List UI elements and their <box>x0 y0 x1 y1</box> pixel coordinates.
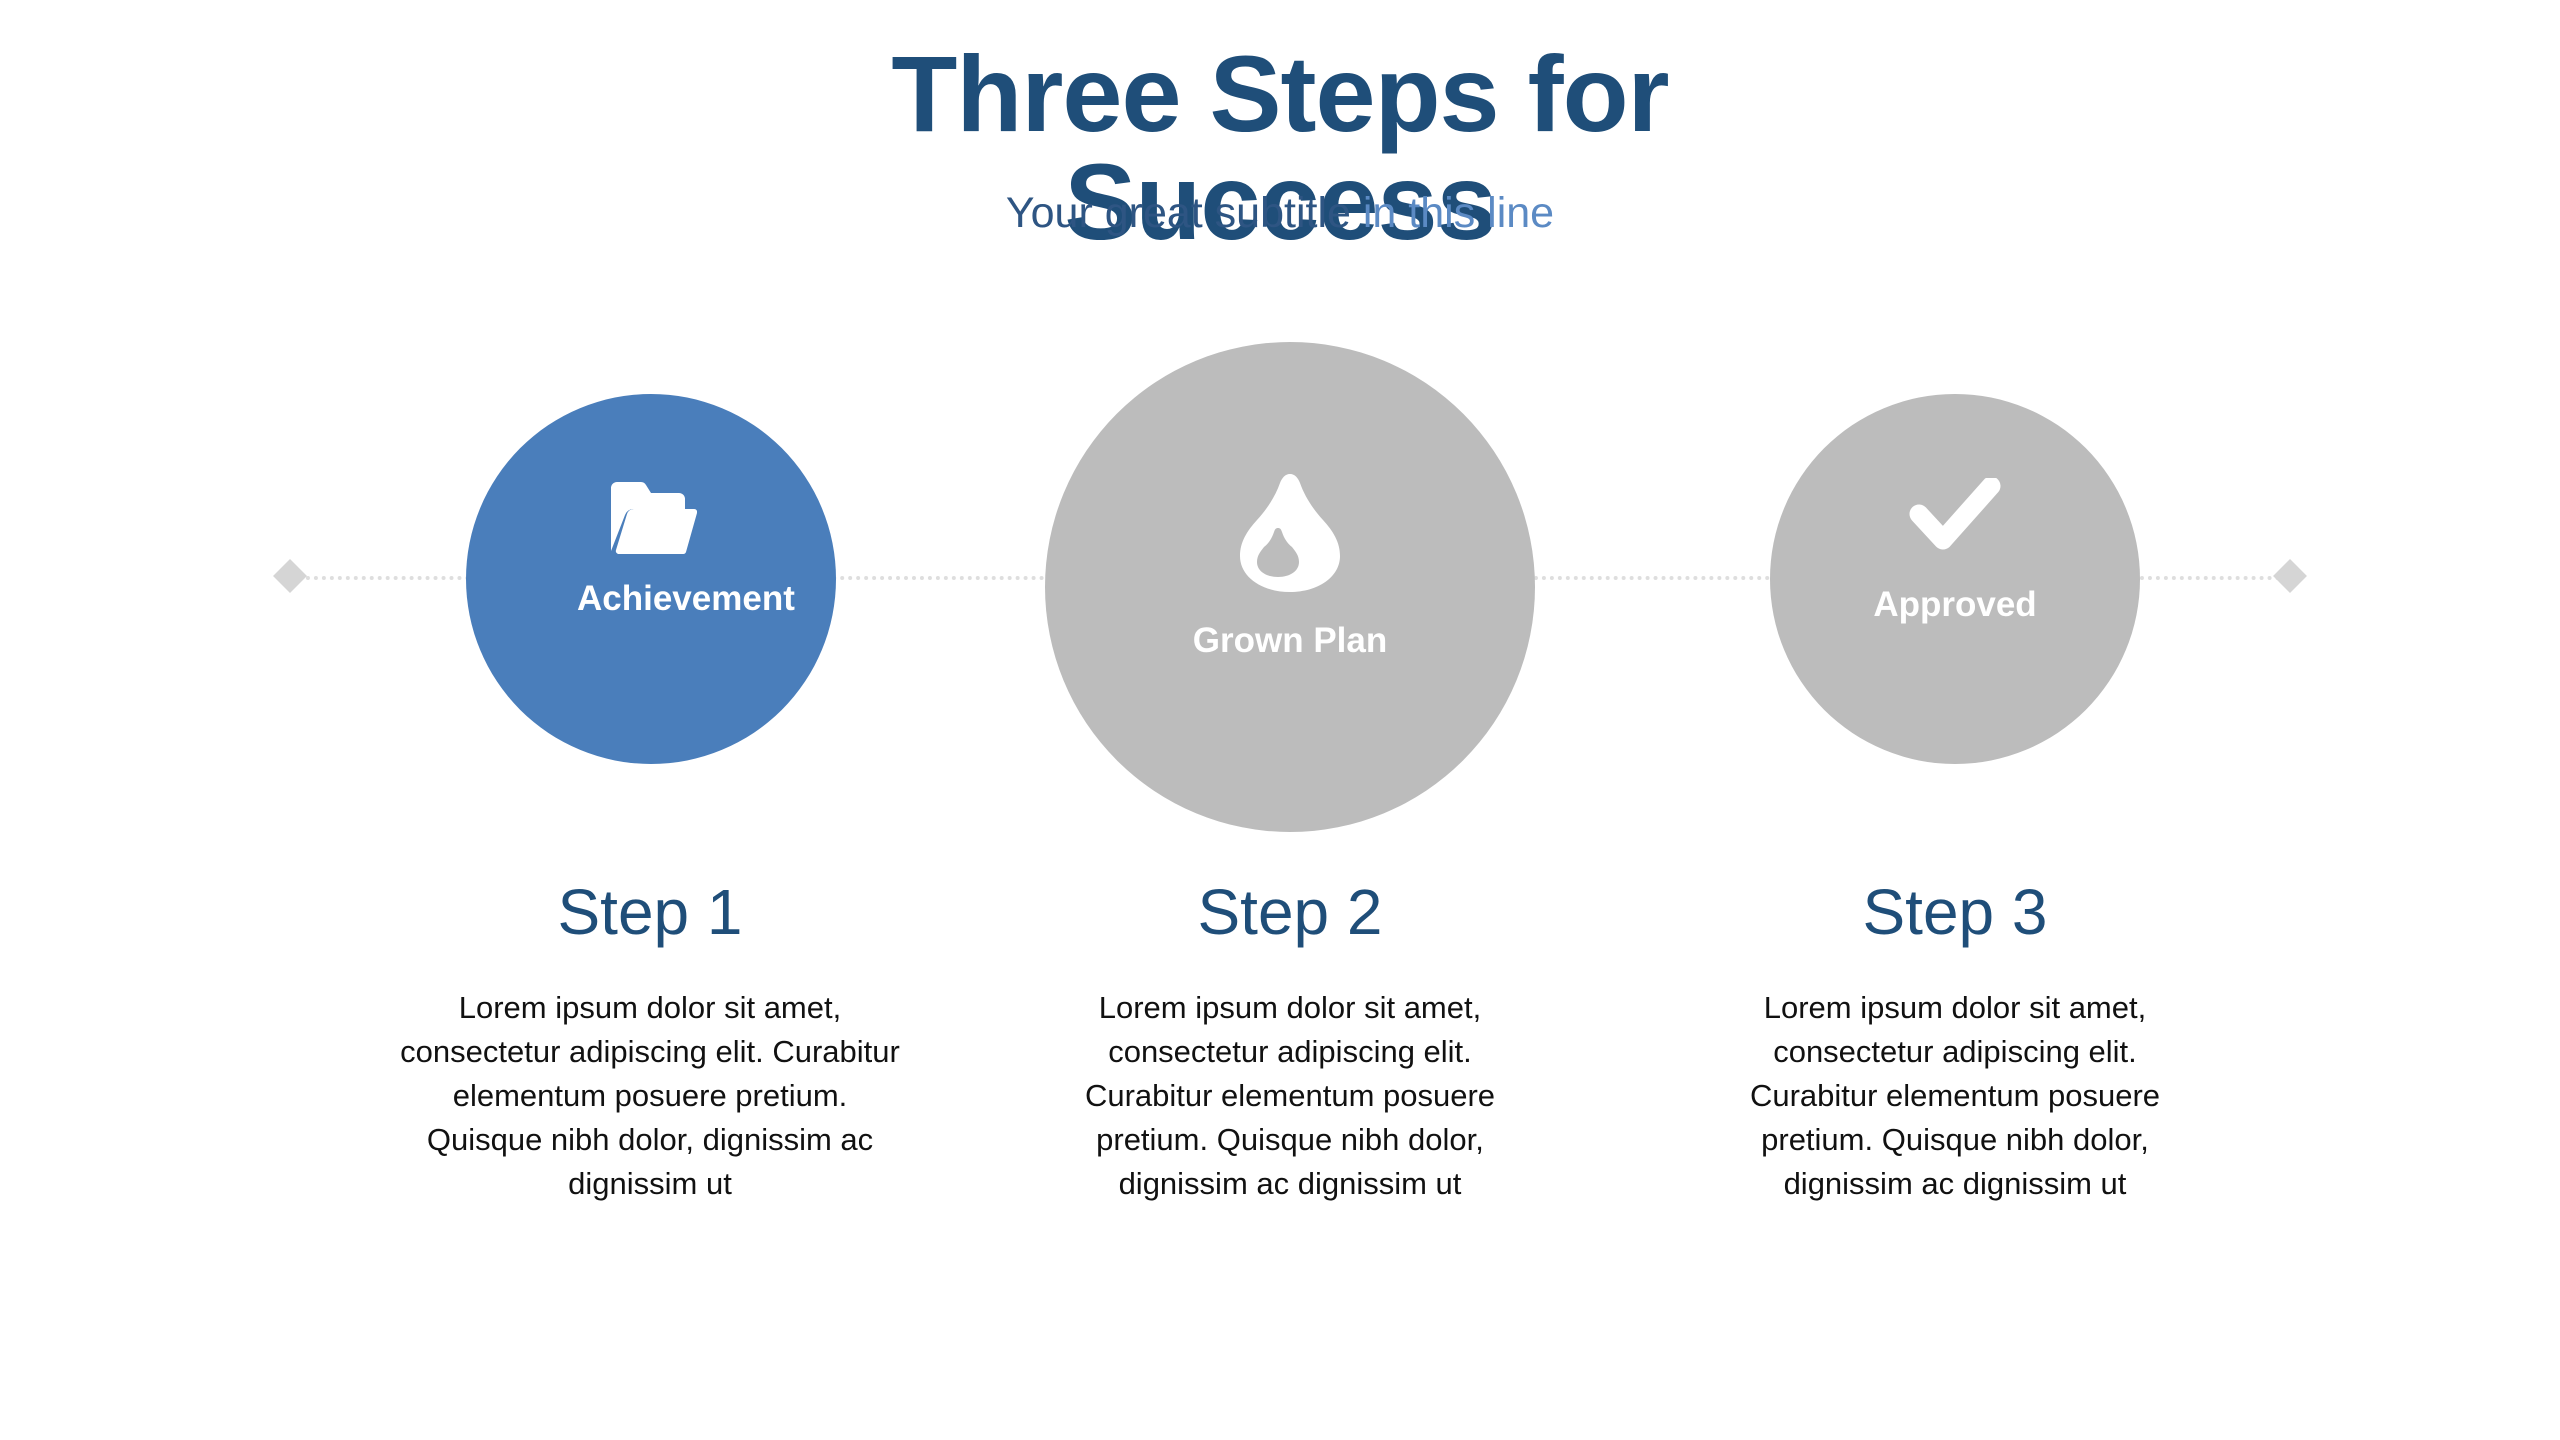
step-column-1: Step 1 Lorem ipsum dolor sit amet, conse… <box>395 880 905 1206</box>
timeline-node-grown-plan[interactable]: Grown Plan <box>1045 342 1535 832</box>
step-body-text: Lorem ipsum dolor sit amet, consectetur … <box>1700 986 2210 1206</box>
timeline: Achievement Grown Plan Approved <box>0 0 2560 1440</box>
step-heading: Step 2 <box>1035 880 1545 944</box>
step-columns: Step 1 Lorem ipsum dolor sit amet, conse… <box>0 880 2560 1220</box>
timeline-node-achievement[interactable]: Achievement <box>466 394 836 764</box>
timeline-node-label: Approved <box>1825 584 2085 625</box>
timeline-node-label: Grown Plan <box>1140 620 1440 661</box>
check-icon <box>1907 478 2003 558</box>
timeline-end-diamond-right-icon <box>2273 559 2307 593</box>
timeline-node-label: Achievement <box>577 578 725 619</box>
step-column-3: Step 3 Lorem ipsum dolor sit amet, conse… <box>1700 880 2210 1206</box>
step-body-text: Lorem ipsum dolor sit amet, consectetur … <box>395 986 905 1206</box>
step-heading: Step 1 <box>395 880 905 944</box>
timeline-end-diamond-left-icon <box>273 559 307 593</box>
step-body-text: Lorem ipsum dolor sit amet, consectetur … <box>1035 986 1545 1206</box>
water-drop-icon <box>1236 472 1344 594</box>
folder-icon <box>605 478 697 556</box>
step-column-2: Step 2 Lorem ipsum dolor sit amet, conse… <box>1035 880 1545 1206</box>
step-heading: Step 3 <box>1700 880 2210 944</box>
timeline-node-approved[interactable]: Approved <box>1770 394 2140 764</box>
